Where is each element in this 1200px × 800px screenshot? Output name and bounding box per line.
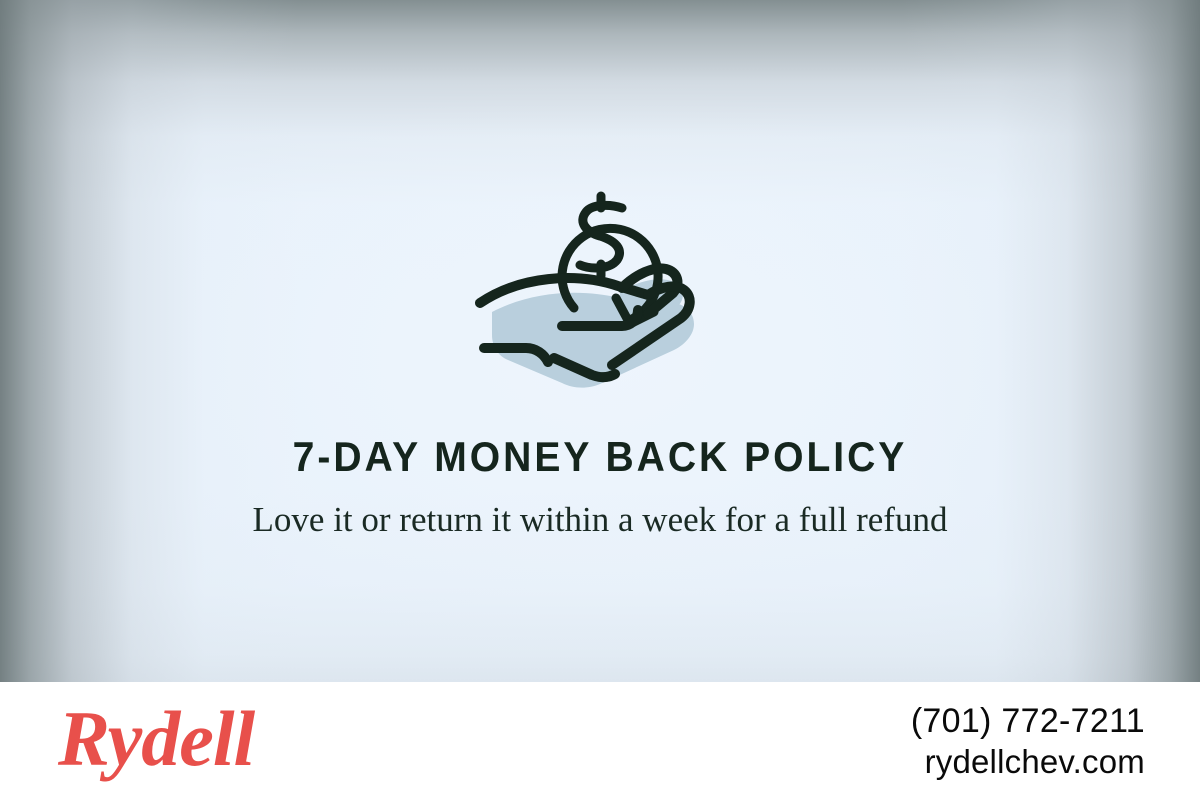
page-subtitle: Love it or return it within a week for a…: [250, 496, 950, 543]
rydell-logo[interactable]: Rydell: [58, 700, 254, 778]
website-url[interactable]: rydellchev.com: [911, 742, 1145, 782]
footer-bar: Rydell (701) 772-7211 rydellchev.com: [0, 682, 1200, 800]
page-title: 7-DAY MONEY BACK POLICY: [42, 434, 1158, 480]
money-back-hand-icon: [470, 152, 730, 392]
contact-block: (701) 772-7211 rydellchev.com: [911, 700, 1145, 782]
promo-card: 7-DAY MONEY BACK POLICY Love it or retur…: [0, 0, 1200, 800]
phone-number[interactable]: (701) 772-7211: [911, 700, 1145, 742]
hero-panel: 7-DAY MONEY BACK POLICY Love it or retur…: [0, 0, 1200, 682]
